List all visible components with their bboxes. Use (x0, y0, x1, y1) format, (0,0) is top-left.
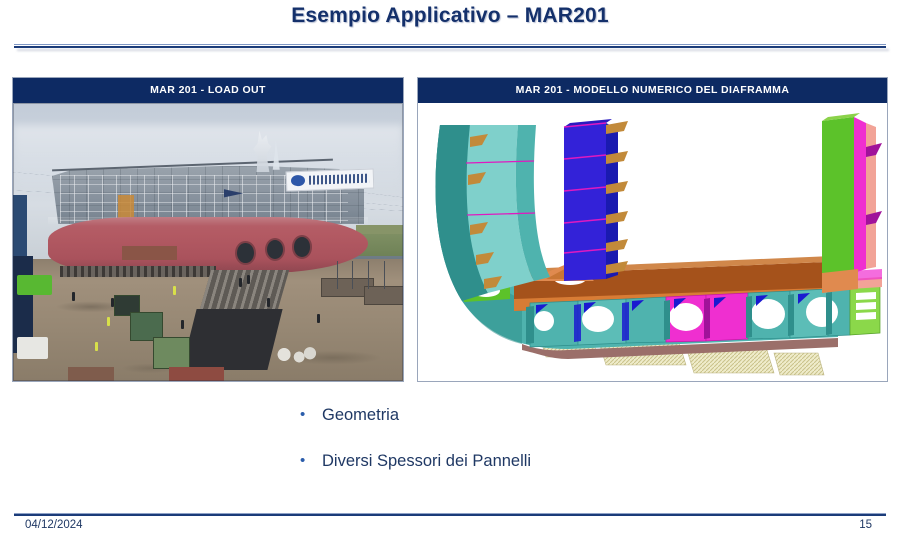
thruster-opening-icon (265, 238, 285, 261)
shipyard-banner (286, 168, 374, 191)
thruster-opening-icon (292, 235, 312, 258)
load-out-photograph (13, 103, 403, 381)
page-title: Esempio Applicativo – MAR201 (0, 4, 900, 28)
bullet-list: • Geometria • Diversi Spessori dei Panne… (300, 405, 860, 497)
footer-date: 04/12/2024 (25, 519, 83, 531)
list-item: • Geometria (300, 405, 860, 425)
title-divider (14, 44, 886, 49)
bullet-marker-icon: • (300, 451, 322, 471)
panel-numerical-model-body (418, 103, 887, 381)
bullet-text: Diversi Spessori dei Pannelli (322, 451, 531, 471)
right-bulkhead (822, 113, 882, 279)
bullet-marker-icon: • (300, 405, 322, 425)
list-item: • Diversi Spessori dei Pannelli (300, 451, 860, 471)
panel-numerical-model-header: MAR 201 - MODELLO NUMERICO DEL DIAFRAMMA (418, 78, 887, 104)
footer-page-number: 15 (859, 519, 872, 531)
panel-load-out-header: MAR 201 - LOAD OUT (13, 78, 403, 104)
bullet-text: Geometria (322, 405, 399, 425)
panel-numerical-model: MAR 201 - MODELLO NUMERICO DEL DIAFRAMMA (417, 77, 888, 382)
centre-bulkhead (564, 119, 628, 281)
panel-load-out-body (13, 103, 403, 381)
fem-diaphragm-model (418, 103, 887, 381)
footer-divider (14, 513, 886, 516)
ship-hull (48, 217, 368, 273)
panel-load-out: MAR 201 - LOAD OUT (12, 77, 404, 382)
